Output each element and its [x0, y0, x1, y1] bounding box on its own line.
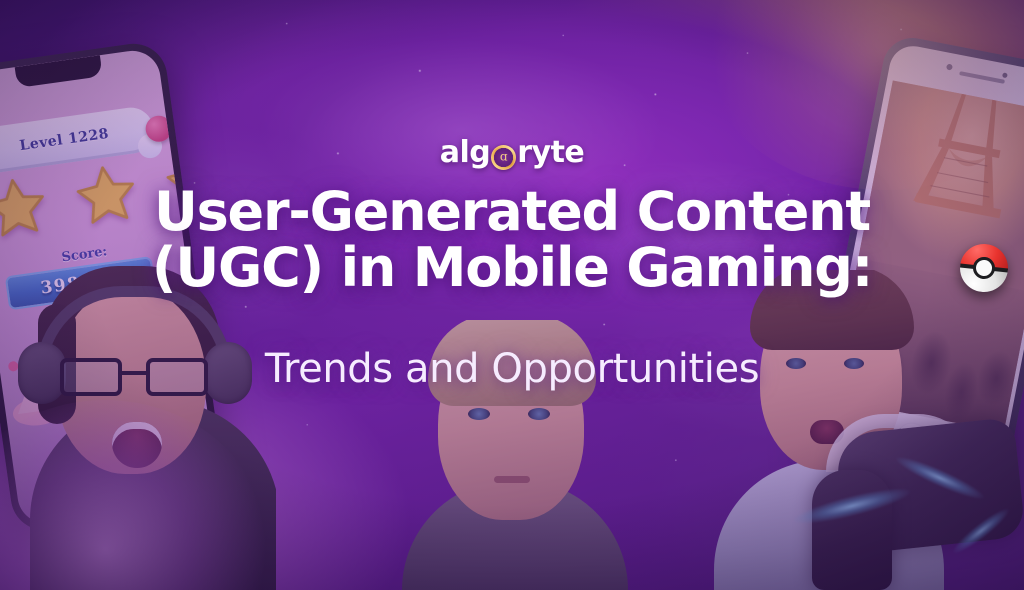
phone-earpiece [959, 71, 1005, 84]
title-line-1: User-Generated Content [0, 184, 1024, 240]
page-title: User-Generated Content (UGC) in Mobile G… [0, 184, 1024, 296]
front-camera-icon [946, 64, 953, 71]
center-person-eye-left [468, 408, 490, 420]
emblem-glyph: ɑ [500, 151, 508, 163]
algoryte-logo[interactable]: alg ɑ ryte [440, 138, 585, 168]
center-person-mouth [494, 476, 530, 483]
phone-notch [15, 55, 103, 88]
logo-text-after: ryte [517, 138, 584, 168]
microphone-icon [812, 470, 892, 590]
ugc-mobile-gaming-banner: Level 1228 [0, 0, 1024, 590]
page-subtitle: Trends and Opportunities [0, 346, 1024, 392]
center-person-eye-right [528, 408, 550, 420]
proximity-sensor-icon [1002, 72, 1008, 78]
algoryte-coin-emblem-icon: ɑ [491, 145, 516, 170]
logo-text-before: alg [440, 138, 491, 168]
title-line-2: (UGC) in Mobile Gaming: [0, 240, 1024, 296]
creator-photo-left [8, 260, 276, 590]
